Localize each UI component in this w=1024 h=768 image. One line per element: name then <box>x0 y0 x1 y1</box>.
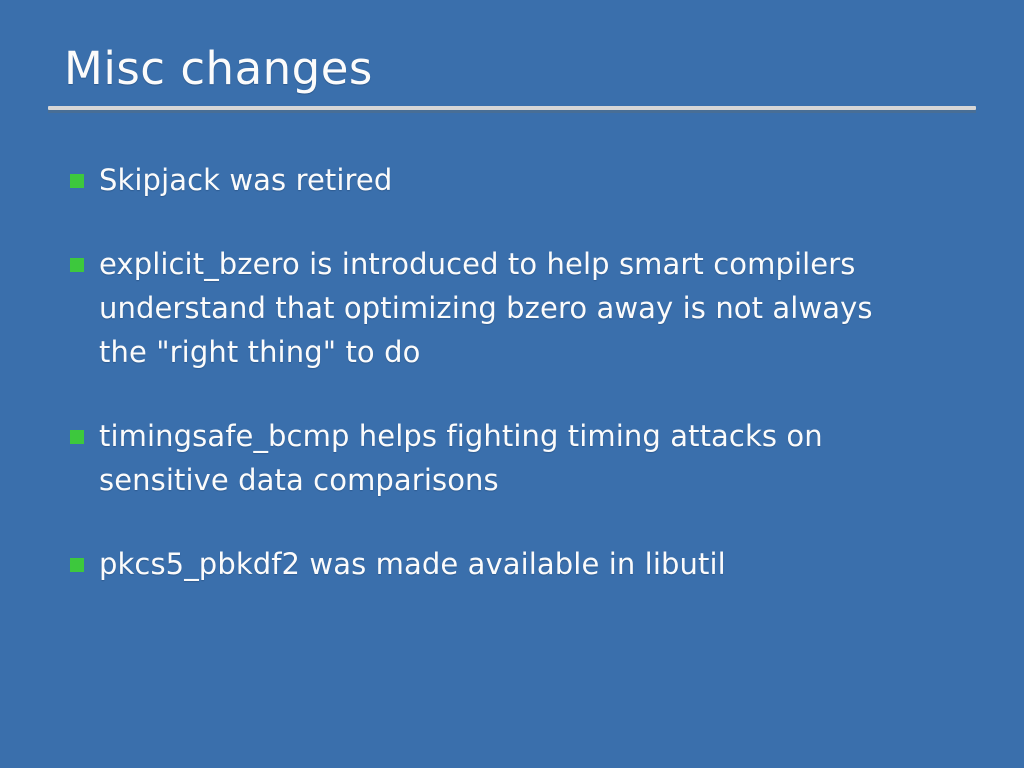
page-title: Misc changes <box>48 40 976 98</box>
title-block: Misc changes <box>48 40 976 98</box>
list-item-label: pkcs5_pbkdf2 was made available in libut… <box>99 542 959 586</box>
list-item: timingsafe_bcmp helps fighting timing at… <box>70 414 970 502</box>
list-item: Skipjack was retired <box>70 158 970 202</box>
list-item: explicit_bzero is introduced to help sma… <box>70 242 970 374</box>
square-bullet-icon <box>70 258 84 272</box>
square-bullet-icon <box>70 430 84 444</box>
square-bullet-icon <box>70 558 84 572</box>
list-item-label: explicit_bzero is introduced to help sma… <box>99 242 917 374</box>
bullet-list: Skipjack was retired explicit_bzero is i… <box>70 158 970 586</box>
square-bullet-icon <box>70 174 84 188</box>
title-divider <box>48 106 976 110</box>
list-item-label: timingsafe_bcmp helps fighting timing at… <box>99 414 874 502</box>
list-item-label: Skipjack was retired <box>99 158 959 202</box>
presentation-slide: Misc changes Skipjack was retired explic… <box>0 0 1024 768</box>
list-item: pkcs5_pbkdf2 was made available in libut… <box>70 542 970 586</box>
